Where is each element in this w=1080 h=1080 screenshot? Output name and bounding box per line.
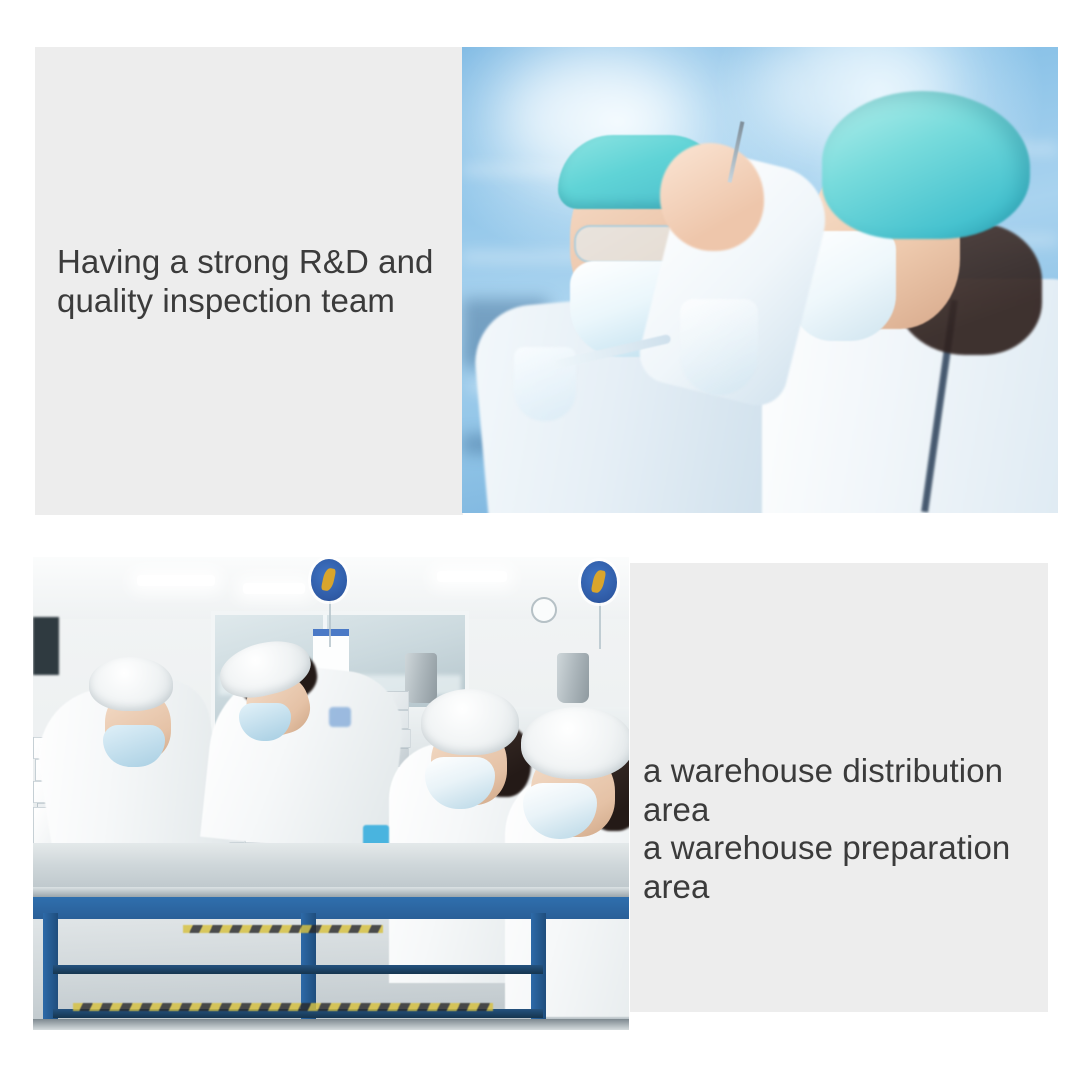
worker-4-hairnet <box>521 707 629 779</box>
technician-right-hairnet <box>822 91 1030 239</box>
ceiling-light-a <box>137 575 215 586</box>
glass-flask-center <box>680 299 758 395</box>
sign-cord-a <box>329 601 331 647</box>
hazard-tape-upper <box>183 925 383 933</box>
wall-vent <box>33 617 59 675</box>
page-canvas: Having a strong R&D and quality inspecti… <box>0 0 1080 1080</box>
lab-technicians-photo <box>462 47 1058 513</box>
wall-clock-icon <box>531 597 557 623</box>
sign-cord-b <box>599 603 601 649</box>
stainless-table-edge <box>33 887 629 897</box>
worker-2-coat-logo <box>329 707 351 727</box>
hazard-tape-lower <box>73 1003 493 1011</box>
table-crossbar-upper <box>53 965 543 974</box>
ceiling-light-c <box>437 571 507 582</box>
safety-sign-icon-a <box>311 559 347 601</box>
worker-3-hairnet <box>421 689 519 755</box>
worker-1-hairnet <box>89 657 173 711</box>
ceiling-light-b <box>243 583 305 594</box>
rd-quality-caption: Having a strong R&D and quality inspecti… <box>57 243 457 320</box>
hand-holding-tweezers <box>660 143 764 251</box>
warehouse-packing-photo <box>33 557 629 1030</box>
warehouse-caption: a warehouse distribution area a warehous… <box>643 752 1063 906</box>
steel-pot-a <box>405 653 437 703</box>
floor <box>33 1019 629 1030</box>
steel-pot-b <box>557 653 589 703</box>
safety-sign-icon-b <box>581 561 617 603</box>
